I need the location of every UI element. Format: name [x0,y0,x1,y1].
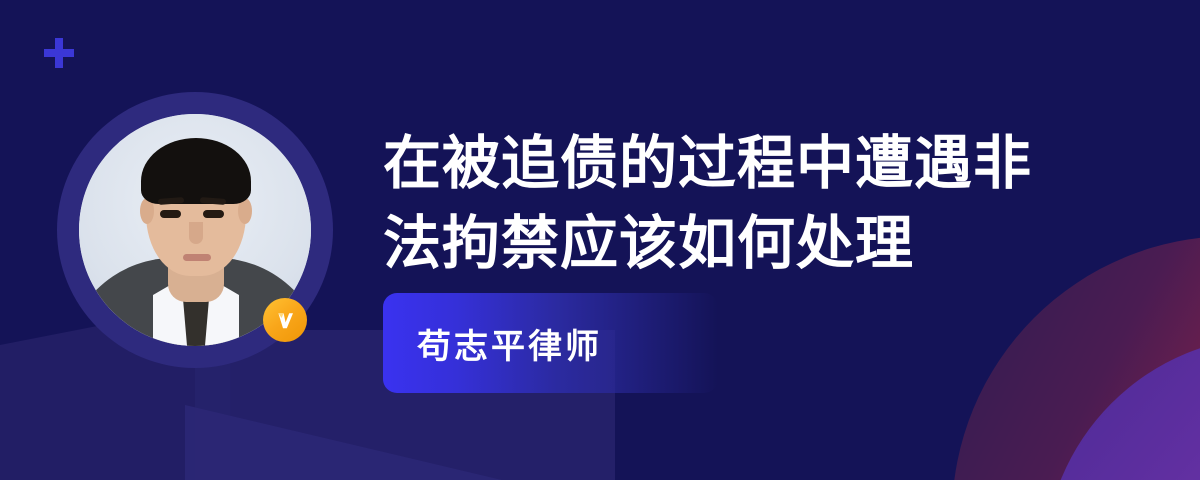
portrait-nose [189,222,203,244]
plus-icon [44,38,74,68]
avatar [57,92,333,368]
author-name-badge[interactable]: 苟志平律师 [383,293,718,393]
author-name-label: 苟志平律师 [383,319,602,368]
verified-v-icon [263,298,307,342]
promo-banner: 在被追债的过程中遭遇非 法拘禁应该如何处理 苟志平律师 [0,0,1200,480]
portrait-eye-left [160,210,181,218]
page-title: 在被追债的过程中遭遇非 法拘禁应该如何处理 [383,124,1083,284]
portrait-eye-right [203,210,224,218]
portrait-mouth [183,254,211,261]
